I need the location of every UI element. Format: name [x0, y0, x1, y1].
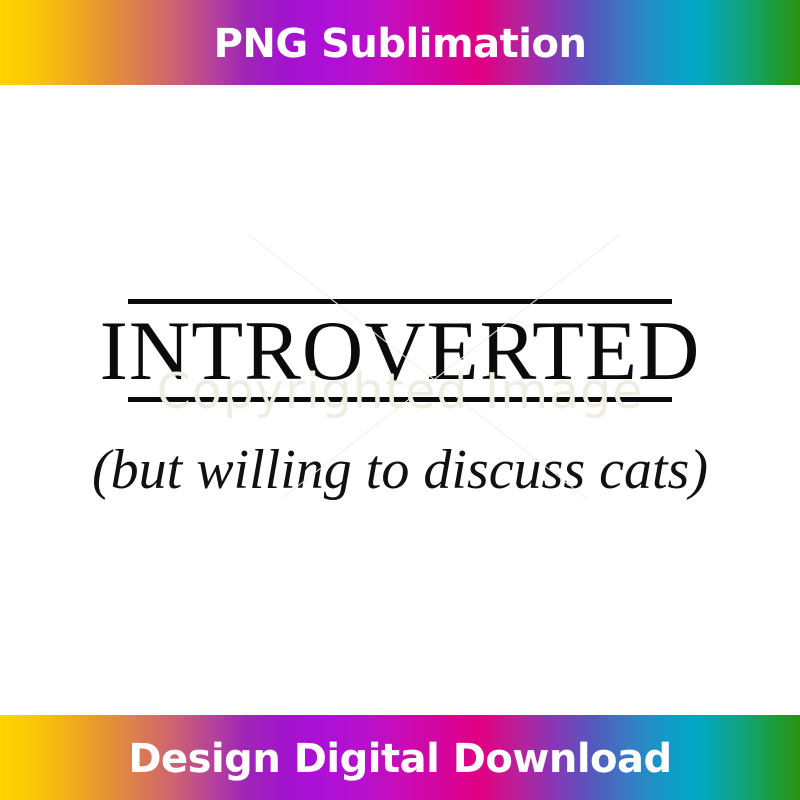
- bottom-banner: Design Digital Download: [0, 715, 800, 800]
- top-banner: PNG Sublimation: [0, 0, 800, 85]
- top-banner-label: PNG Sublimation: [214, 24, 587, 64]
- headline-rule-bottom: [128, 397, 672, 402]
- design-artboard: INTROVERTED (but willing to discuss cats…: [0, 85, 800, 715]
- design-text-group: INTROVERTED (but willing to discuss cats…: [0, 85, 800, 715]
- design-subline: (but willing to discuss cats): [0, 442, 800, 498]
- sublimation-design-preview: PNG Sublimation INTROVERTED (but willing…: [0, 0, 800, 800]
- bottom-banner-label: Design Digital Download: [128, 739, 671, 779]
- design-headline: INTROVERTED: [0, 309, 800, 394]
